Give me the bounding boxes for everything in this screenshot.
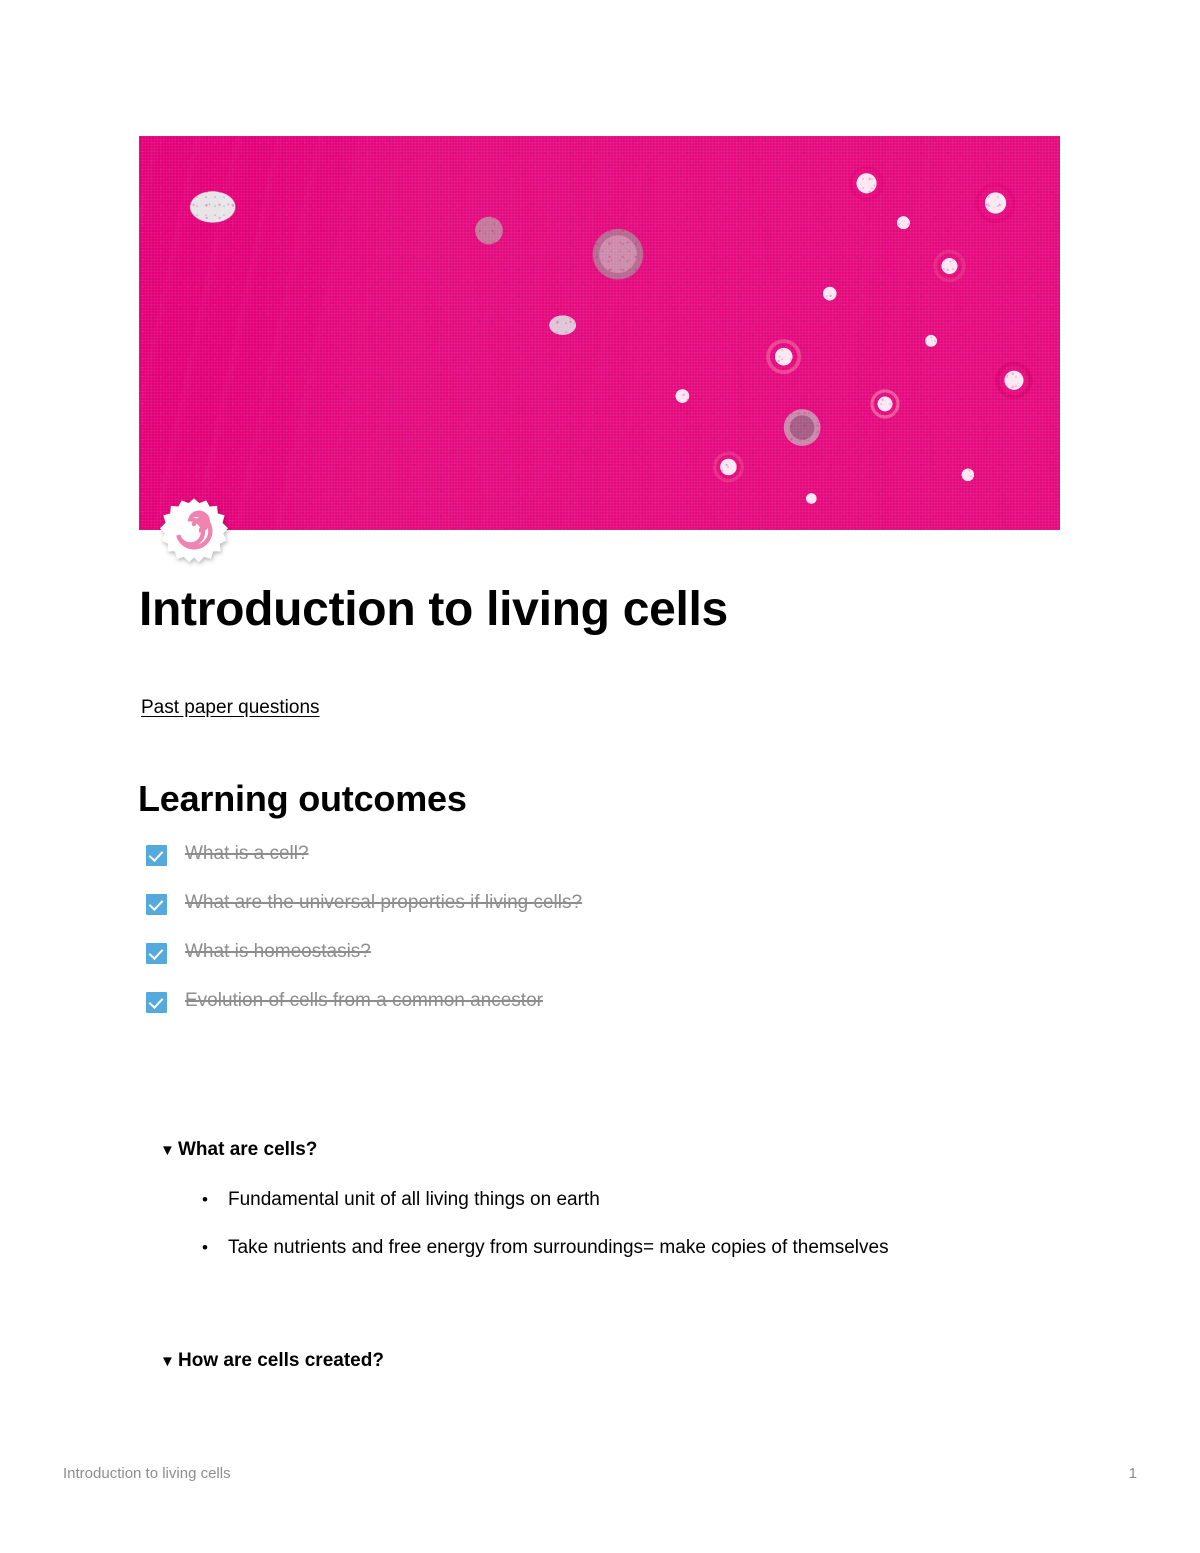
checkbox-checked-icon[interactable] [146,894,167,915]
list-item-text: Take nutrients and free energy from surr… [228,1236,889,1260]
checkbox-checked-icon[interactable] [146,845,167,866]
page-footer: Introduction to living cells 1 [63,1465,1137,1482]
checklist-item[interactable]: What is homeostasis? [146,941,906,990]
checklist-item[interactable]: What is a cell? [146,843,906,892]
list-item: • Fundamental unit of all living things … [160,1188,1090,1212]
outline-section: ▼ What are cells? • Fundamental unit of … [160,1139,1090,1260]
outline-section-header[interactable]: ▼ What are cells? [160,1139,1090,1161]
checkbox-checked-icon[interactable] [146,943,167,964]
checkbox-checked-icon[interactable] [146,992,167,1013]
learning-outcomes-checklist: What is a cell? What are the universal p… [146,843,906,1039]
list-item-text: Fundamental unit of all living things on… [228,1188,600,1212]
spiral-seal-icon [159,497,229,565]
hero-image-container[interactable] [139,136,1060,530]
outline-section-title: What are cells? [178,1139,317,1161]
checklist-item-label: What are the universal properties if liv… [185,892,582,914]
subtitle-text: Past paper questions [141,697,320,718]
outline-section-title: How are cells created? [178,1350,384,1372]
outline-sections: ▼ What are cells? • Fundamental unit of … [160,1139,1090,1372]
footer-document-name: Introduction to living cells [63,1465,231,1482]
bullet-dot-icon: • [202,1236,228,1260]
checklist-item[interactable]: Evolution of cells from a common ancesto… [146,990,906,1039]
section-heading-learning-outcomes: Learning outcomes [138,778,467,820]
checklist-item[interactable]: What are the universal properties if liv… [146,892,906,941]
footer-page-number: 1 [1129,1465,1137,1482]
checklist-item-label: What is homeostasis? [185,941,371,963]
hero-image [139,136,1060,530]
page-title: Introduction to living cells [139,583,728,637]
outline-section-header[interactable]: ▼ How are cells created? [160,1350,1090,1372]
triangle-down-icon[interactable]: ▼ [160,1354,178,1369]
subtitle: Past paper questions [141,696,320,721]
outline-section: ▼ How are cells created? [160,1350,1090,1372]
outline-bullet-list: • Fundamental unit of all living things … [160,1188,1090,1260]
checklist-item-label: Evolution of cells from a common ancesto… [185,990,543,1012]
document-page: Introduction to living cells Past paper … [0,0,1200,1553]
list-item: • Take nutrients and free energy from su… [160,1236,1090,1260]
checklist-item-label: What is a cell? [185,843,309,865]
bullet-dot-icon: • [202,1188,228,1212]
triangle-down-icon[interactable]: ▼ [160,1143,178,1158]
hero-grain-layer [139,136,1060,530]
